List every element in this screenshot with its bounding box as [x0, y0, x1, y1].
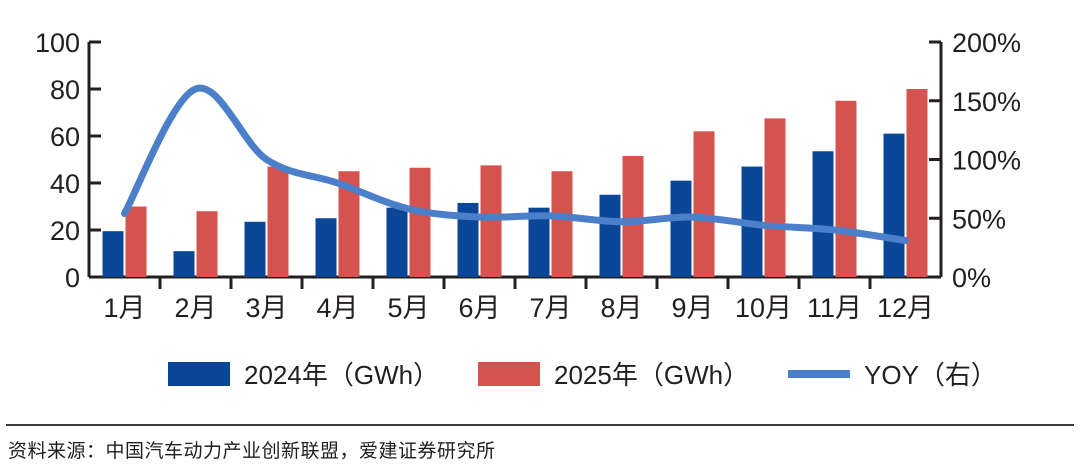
category-label: 3月 [245, 293, 287, 323]
left-axis-tick-label: 60 [50, 122, 80, 152]
bar-2024 [671, 181, 692, 277]
bar-2025 [765, 118, 786, 277]
source-note: 资料来源：中国汽车动力产业创新联盟，爱建证券研究所 [8, 436, 496, 463]
category-label: 1月 [103, 293, 145, 323]
series-line-yoy [125, 88, 906, 240]
right-axis-tick-label: 50% [952, 204, 1006, 234]
left-axis-tick-label: 40 [50, 169, 80, 199]
bar-2025 [126, 207, 147, 278]
bar-2025 [197, 211, 218, 277]
right-axis-tick-label: 0% [952, 263, 991, 293]
legend-swatch-bar [168, 362, 230, 386]
bar-2024 [600, 195, 621, 277]
battery-installation-chart: 020406080100 0%50%100%150%200% 1月2月3月4月5… [0, 0, 1080, 415]
category-label: 10月 [735, 293, 792, 323]
bar-2025 [907, 89, 928, 277]
category-label: 9月 [671, 293, 713, 323]
category-label: 8月 [600, 293, 642, 323]
bar-2025 [410, 168, 431, 277]
bar-2024 [884, 134, 905, 277]
category-axis: 1月2月3月4月5月6月7月8月9月10月11月12月 [89, 277, 941, 323]
bar-2025 [481, 165, 502, 277]
right-axis-tick-label: 200% [952, 28, 1021, 58]
category-label: 6月 [458, 293, 500, 323]
category-label: 11月 [807, 293, 862, 323]
bar-2025 [694, 131, 715, 277]
right-axis: 0%50%100%150%200% [929, 28, 1021, 293]
right-axis-tick-label: 150% [952, 87, 1021, 117]
category-label: 4月 [316, 293, 358, 323]
bar-2024 [103, 231, 124, 277]
legend-item: 2024年（GWh） [168, 360, 439, 390]
bar-2024 [316, 218, 337, 277]
legend-label: 2024年（GWh） [244, 360, 439, 390]
category-label: 2月 [174, 293, 216, 323]
bar-2024 [174, 251, 195, 277]
bar-2025 [552, 171, 573, 277]
left-axis-tick-label: 20 [50, 216, 80, 246]
bar-2025 [836, 101, 857, 277]
legend-label: YOY（右） [864, 360, 997, 390]
left-axis-tick-label: 80 [50, 75, 80, 105]
right-axis-tick-label: 100% [952, 146, 1021, 176]
chart-figure: 020406080100 0%50%100%150%200% 1月2月3月4月5… [0, 0, 1080, 472]
legend-item: 2025年（GWh） [478, 360, 749, 390]
bar-2024 [813, 151, 834, 277]
bar-2024 [245, 222, 266, 277]
footer-divider [6, 424, 1074, 426]
legend-label: 2025年（GWh） [554, 360, 749, 390]
category-label: 12月 [877, 293, 934, 323]
bar-2025 [623, 156, 644, 277]
legend-item: YOY（右） [788, 360, 997, 390]
bar-2024 [387, 208, 408, 277]
category-label: 7月 [529, 293, 571, 323]
legend-swatch-bar [478, 362, 540, 386]
chart-legend: 2024年（GWh）2025年（GWh）YOY（右） [168, 360, 997, 390]
left-axis: 020406080100 [35, 28, 101, 293]
bar-2025 [268, 167, 289, 277]
left-axis-tick-label: 0 [65, 263, 80, 293]
category-label: 5月 [387, 293, 429, 323]
left-axis-tick-label: 100 [35, 28, 80, 58]
